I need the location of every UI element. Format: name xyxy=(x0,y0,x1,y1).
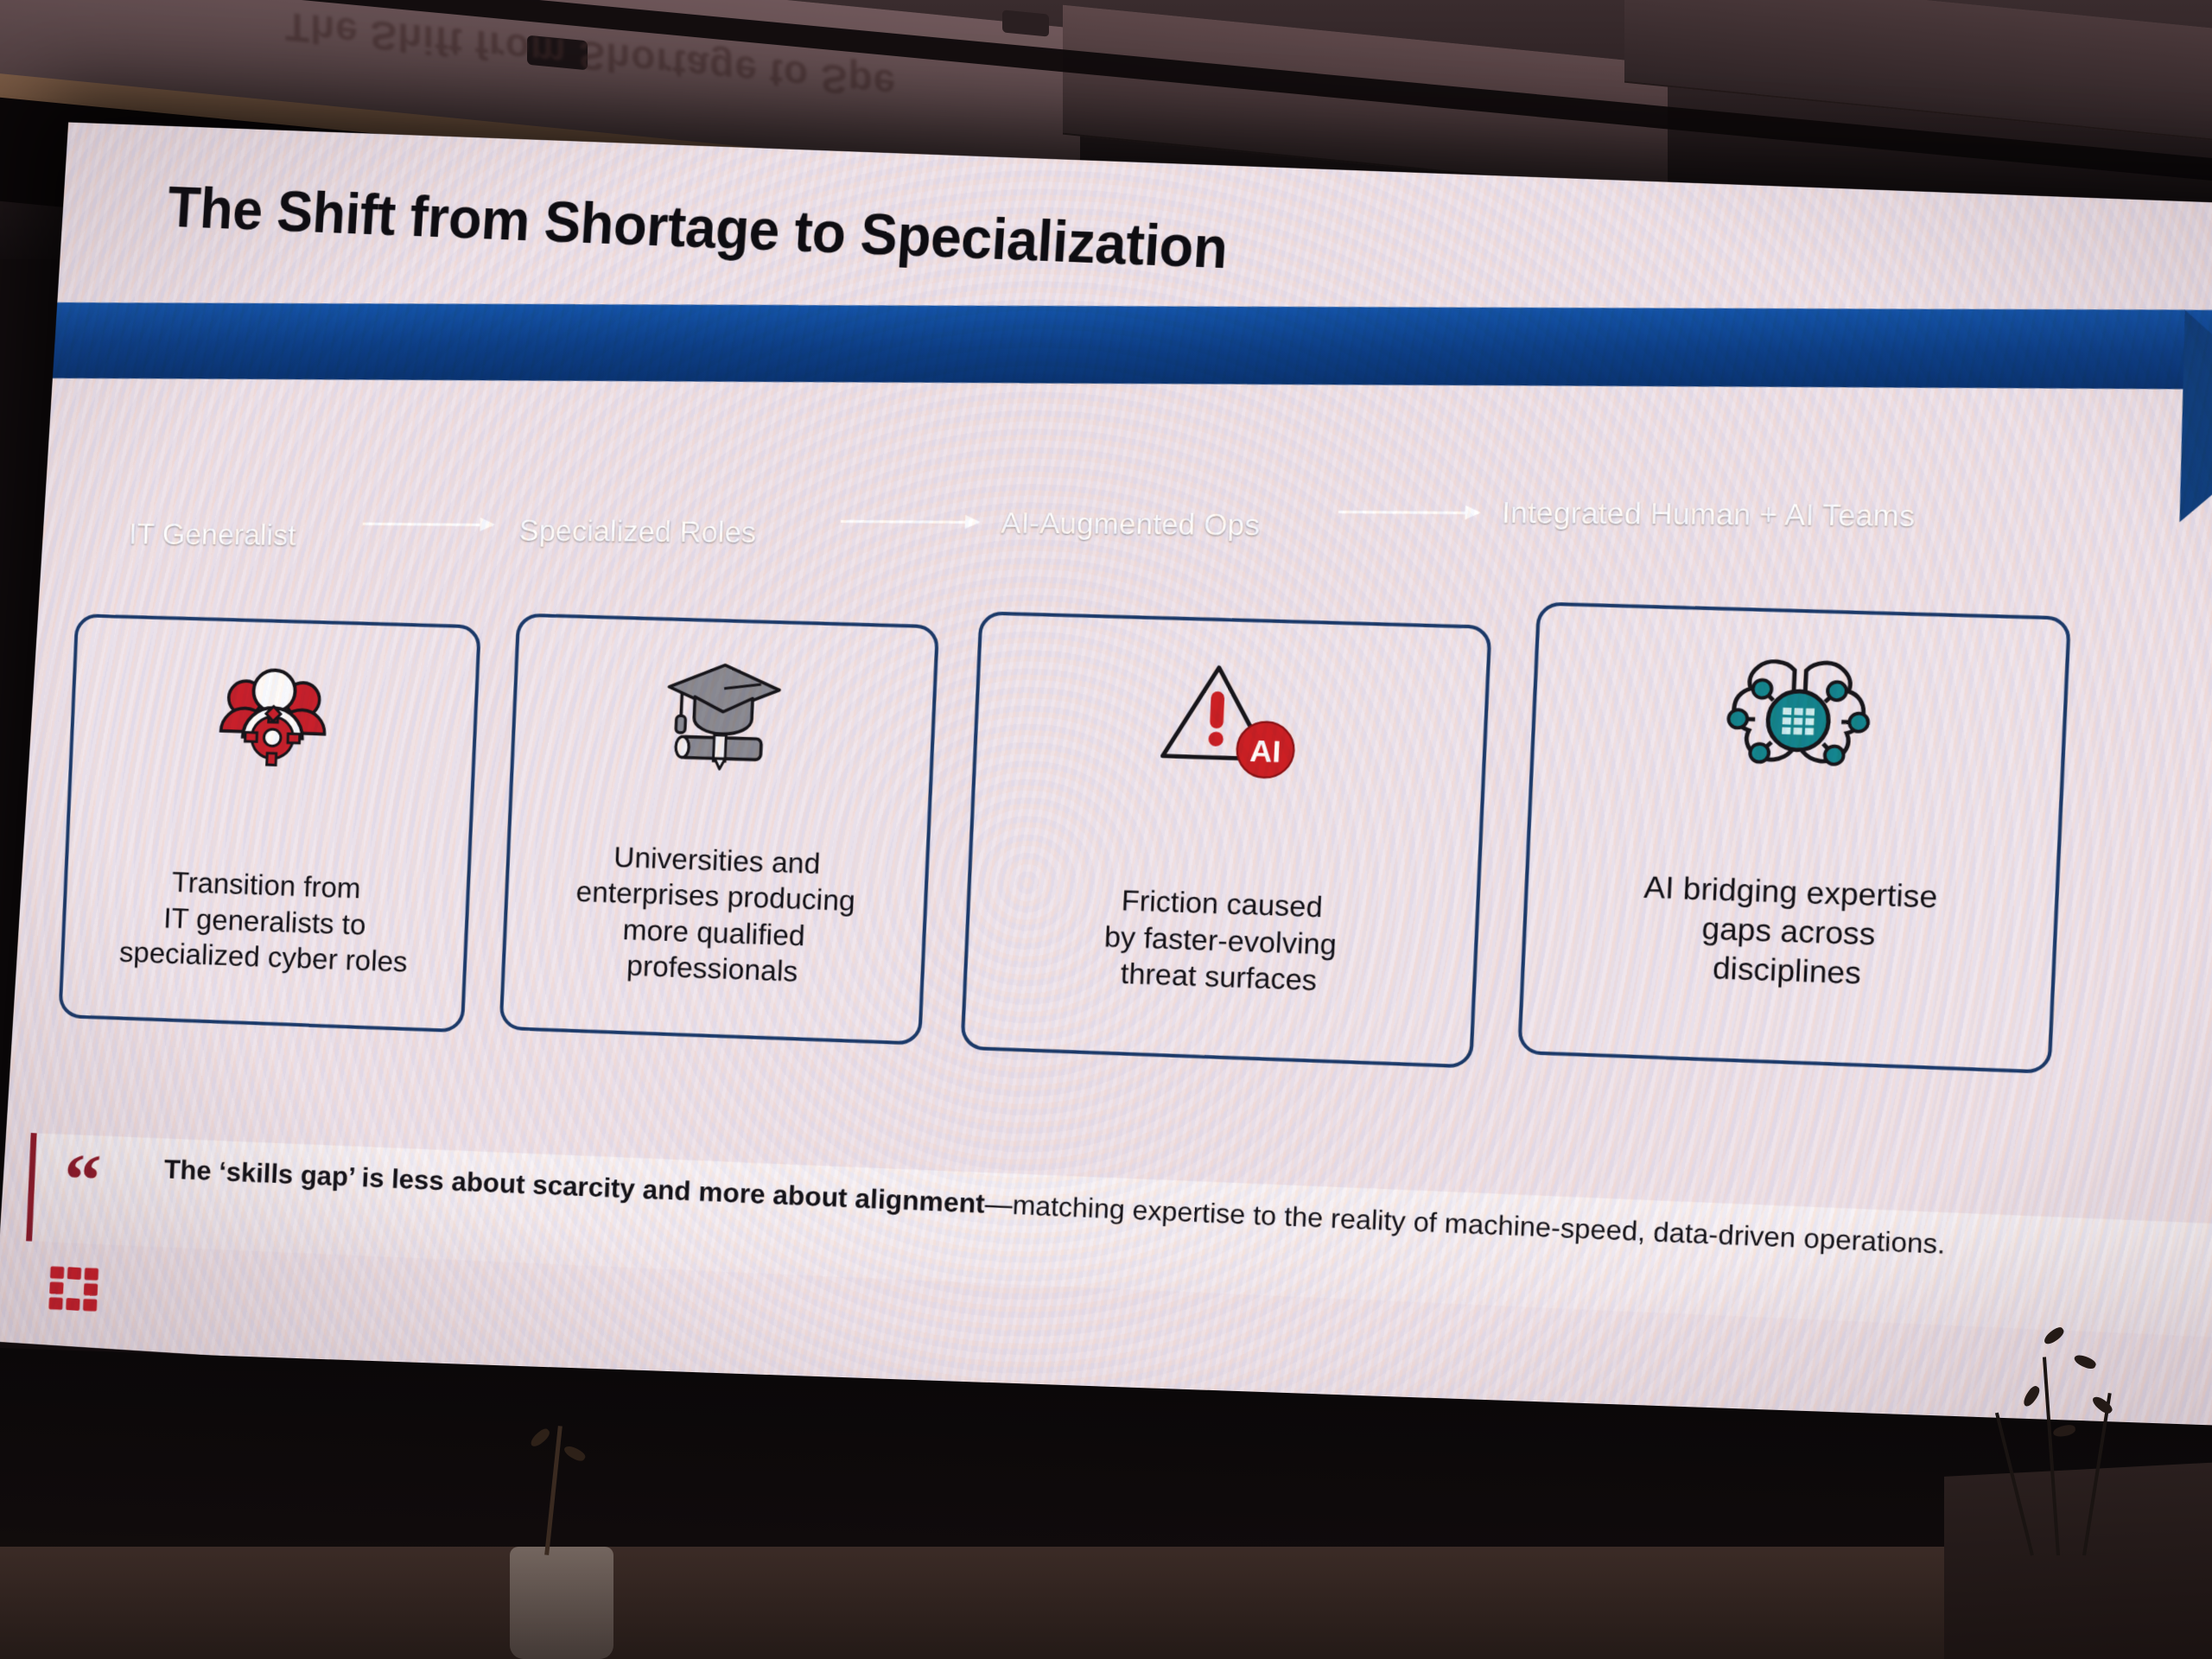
logo-cell xyxy=(67,1282,80,1295)
leaf xyxy=(563,1443,588,1463)
leaf xyxy=(528,1427,552,1449)
card-text: Transition from IT generalists to specia… xyxy=(64,861,467,982)
logo-cell xyxy=(66,1298,79,1311)
card-icon-wrap xyxy=(1533,646,2065,796)
logo-cell xyxy=(85,1268,99,1281)
warning-triangle-ai-icon: AI xyxy=(1153,655,1306,787)
svg-text:AI: AI xyxy=(1249,734,1281,769)
graduation-cap-diploma-icon xyxy=(655,651,792,777)
foreground-vase-plant xyxy=(225,1400,622,1659)
quote-mark-icon: “ xyxy=(62,1150,102,1211)
card-ai-bridging[interactable]: AI bridging expertise gaps across discip… xyxy=(1517,602,2071,1074)
conference-room-photo: The Shift from Shortage to Spe The Shift… xyxy=(0,0,2212,1659)
plant-silhouette xyxy=(1970,1296,2160,1555)
card-icon-wrap: AI xyxy=(976,650,1486,793)
card-friction[interactable]: AI Friction caused by faster-evolving th… xyxy=(960,611,1491,1068)
card-universities[interactable]: Universities and enterprises producing m… xyxy=(499,613,940,1045)
logo-cell xyxy=(49,1281,63,1294)
people-gear-icon xyxy=(206,651,340,785)
logo-cell xyxy=(84,1283,98,1296)
card-icon-wrap xyxy=(514,646,935,781)
ai-brain-chip-icon xyxy=(1714,652,1881,790)
card-text: AI bridging expertise gaps across discip… xyxy=(1524,864,2056,1000)
logo-cell xyxy=(83,1299,97,1312)
ceiling-spotlight xyxy=(1002,10,1049,36)
card-icon-wrap xyxy=(72,646,476,788)
card-text: Friction caused by faster-evolving threa… xyxy=(967,877,1477,1005)
presentation-slide: The Shift from Shortage to Specializatio… xyxy=(0,123,2212,1484)
logo-cell xyxy=(48,1297,62,1310)
vase-stem xyxy=(544,1426,563,1555)
logo-cell xyxy=(50,1266,64,1279)
logo-cell xyxy=(67,1267,81,1280)
fortinet-logo xyxy=(48,1266,99,1311)
card-text: Universities and enterprises producing m… xyxy=(505,835,926,994)
card-transition[interactable]: Transition from IT generalists to specia… xyxy=(58,613,481,1033)
vase xyxy=(510,1547,613,1659)
